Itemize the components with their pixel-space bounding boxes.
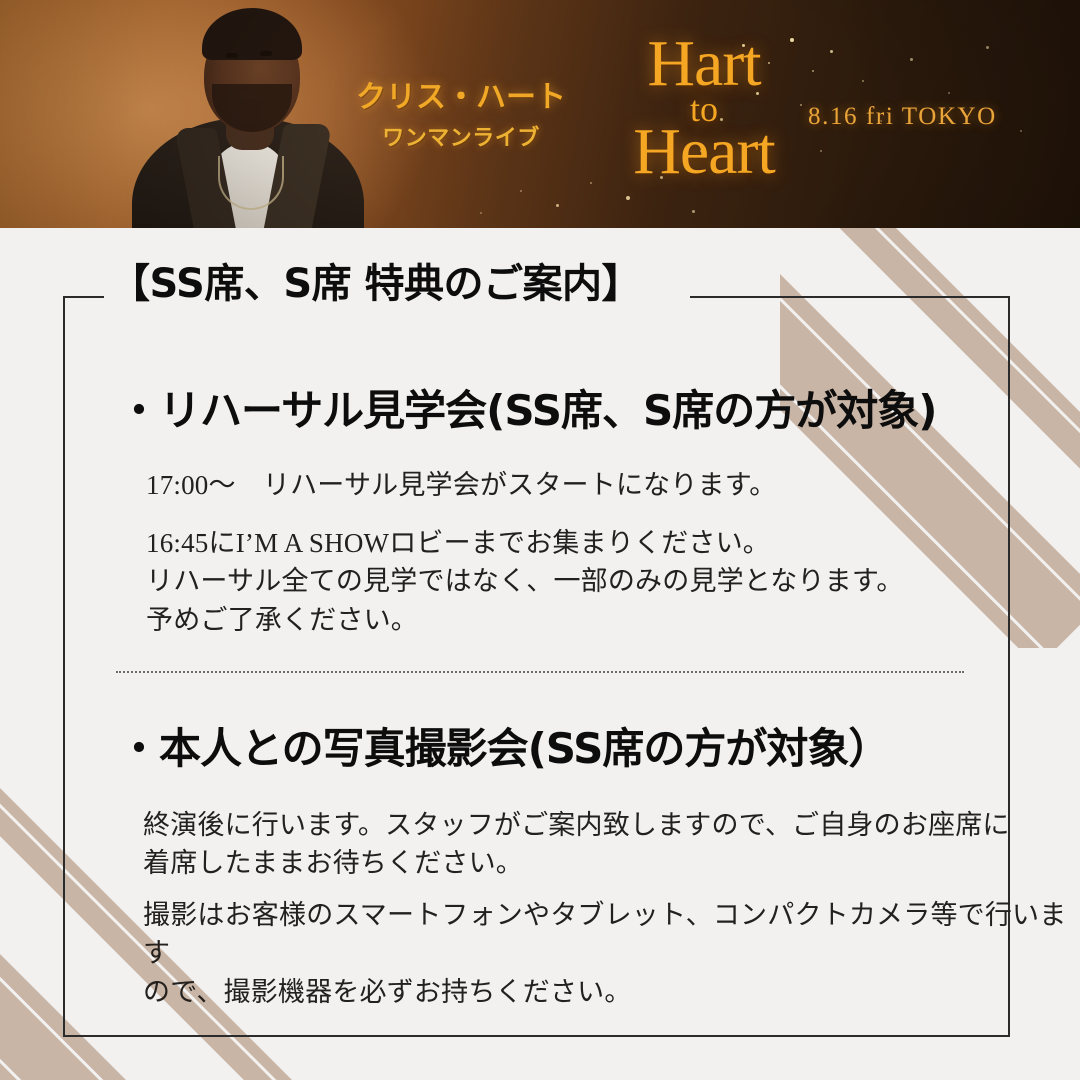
date-venue-label: 8.16 fri TOKYO — [808, 103, 997, 131]
benefit-1-paragraph-2: 16:45にI’M A SHOWロビーまでお集まりください。 リハーサル全ての見… — [146, 524, 904, 639]
benefit-2-paragraph-2: 撮影はお客様のスマートフォンやタブレット、コンパクトカメラ等で行います ので、撮… — [143, 896, 1080, 1011]
tour-title-logo: Hart to Heart — [594, 34, 814, 183]
section-title: 【SS席、S席 特典のご案内】 — [110, 262, 641, 306]
title-rule-right — [690, 296, 926, 298]
benefit-heading-rehearsal: ・リハーサル見学会(SS席、S席の方が対象) — [118, 377, 936, 438]
section-divider-dotted — [116, 671, 964, 673]
tour-title-line-1: Hart — [594, 34, 814, 95]
benefit-2-paragraph-1: 終演後に行います。スタッフがご案内致しますので、ご自身のお座席に 着席したままお… — [143, 806, 1010, 883]
hero-banner: クリス・ハート ワンマンライブ Hart to Heart 8.16 fri T… — [0, 0, 1080, 228]
poster-canvas: クリス・ハート ワンマンライブ Hart to Heart 8.16 fri T… — [0, 0, 1080, 1080]
live-subtitle-jp: ワンマンライブ — [356, 120, 566, 152]
artist-name-jp: クリス・ハート — [356, 82, 566, 114]
benefit-heading-photo-session: ・本人との写真撮影会(SS席の方が対象） — [118, 715, 889, 776]
tour-title-line-3: Heart — [594, 122, 814, 183]
benefit-1-paragraph-1: 17:00〜 リハーサル見学会がスタートになります。 — [146, 466, 776, 504]
